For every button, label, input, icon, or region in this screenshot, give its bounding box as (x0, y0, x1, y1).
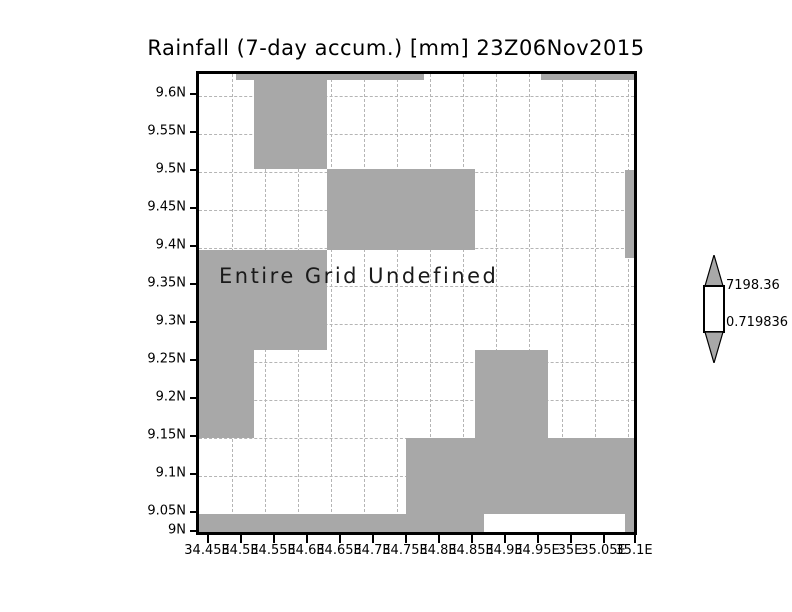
y-axis-label: 9.1N (156, 466, 186, 481)
gridline-horizontal (199, 362, 634, 363)
x-axis-tick (504, 534, 506, 543)
x-axis-tick (306, 534, 308, 543)
y-axis-tick (190, 397, 199, 399)
y-axis-label: 9.6N (156, 86, 186, 101)
unshaded-notch (484, 514, 625, 533)
y-axis-label: 9N (168, 523, 186, 538)
x-axis-tick (372, 534, 374, 543)
x-axis-tick (438, 534, 440, 543)
plot-page: Rainfall (7-day accum.) [mm] 23Z06Nov201… (0, 0, 792, 612)
x-axis-tick (634, 534, 636, 543)
colorbar-max-label: 7198.36 (726, 278, 780, 293)
shaded-region (327, 169, 475, 250)
x-axis-tick (537, 534, 539, 543)
y-axis-tick (190, 473, 199, 475)
x-axis-tick (273, 534, 275, 543)
y-axis-tick (190, 435, 199, 437)
x-axis-tick (471, 534, 473, 543)
colorbar-min-label: 0.719836 (726, 315, 788, 330)
gridline-vertical (364, 74, 365, 532)
x-axis-label: 35.1E (615, 543, 652, 558)
shaded-region (406, 438, 484, 533)
shaded-region (625, 170, 637, 258)
x-axis-tick (207, 534, 209, 543)
y-axis-label: 9.5N (156, 162, 186, 177)
y-axis-label: 9.25N (147, 352, 186, 367)
y-axis-tick (190, 321, 199, 323)
entire-grid-undefined-label: Entire Grid Undefined (219, 264, 498, 288)
colorbar[interactable] (703, 255, 725, 363)
plot-area[interactable]: Entire Grid Undefined (196, 71, 637, 535)
shaded-region (199, 514, 406, 533)
x-axis-tick (570, 534, 572, 543)
colorbar-bottom-arrow-icon (703, 331, 725, 363)
y-axis-label: 9.35N (147, 276, 186, 291)
x-axis-tick (603, 534, 605, 543)
gridline-vertical (397, 74, 398, 532)
colorbar-swatch (703, 285, 725, 333)
gridline-vertical (331, 74, 332, 532)
y-axis-tick (190, 131, 199, 133)
shaded-region (625, 514, 637, 533)
gridline-horizontal (199, 400, 634, 401)
y-axis-label: 9.05N (147, 504, 186, 519)
y-axis-label: 9.4N (156, 238, 186, 253)
shaded-region (541, 74, 637, 80)
page-title: Rainfall (7-day accum.) [mm] 23Z06Nov201… (0, 36, 792, 60)
y-axis-tick (190, 511, 199, 513)
y-axis-tick (190, 93, 199, 95)
x-axis-label: 35E (558, 543, 583, 558)
y-axis-tick (190, 207, 199, 209)
y-axis-label: 9.55N (147, 124, 186, 139)
y-axis-tick (190, 245, 199, 247)
y-axis-label: 9.45N (147, 200, 186, 215)
y-axis-label: 9.2N (156, 390, 186, 405)
shaded-region (475, 350, 548, 438)
colorbar-top-arrow-icon (703, 255, 725, 287)
y-axis-label: 9.15N (147, 428, 186, 443)
y-axis-tick (190, 530, 199, 532)
x-axis-tick (339, 534, 341, 543)
y-axis-tick (190, 169, 199, 171)
x-axis-label: 34.95E (514, 543, 559, 558)
plot-inner: Entire Grid Undefined (199, 74, 634, 532)
y-axis-tick (190, 359, 199, 361)
y-axis-label: 9.3N (156, 314, 186, 329)
x-axis-tick (240, 534, 242, 543)
x-axis-tick (405, 534, 407, 543)
y-axis-tick (190, 283, 199, 285)
shaded-region (199, 350, 254, 438)
shaded-region (254, 74, 327, 169)
